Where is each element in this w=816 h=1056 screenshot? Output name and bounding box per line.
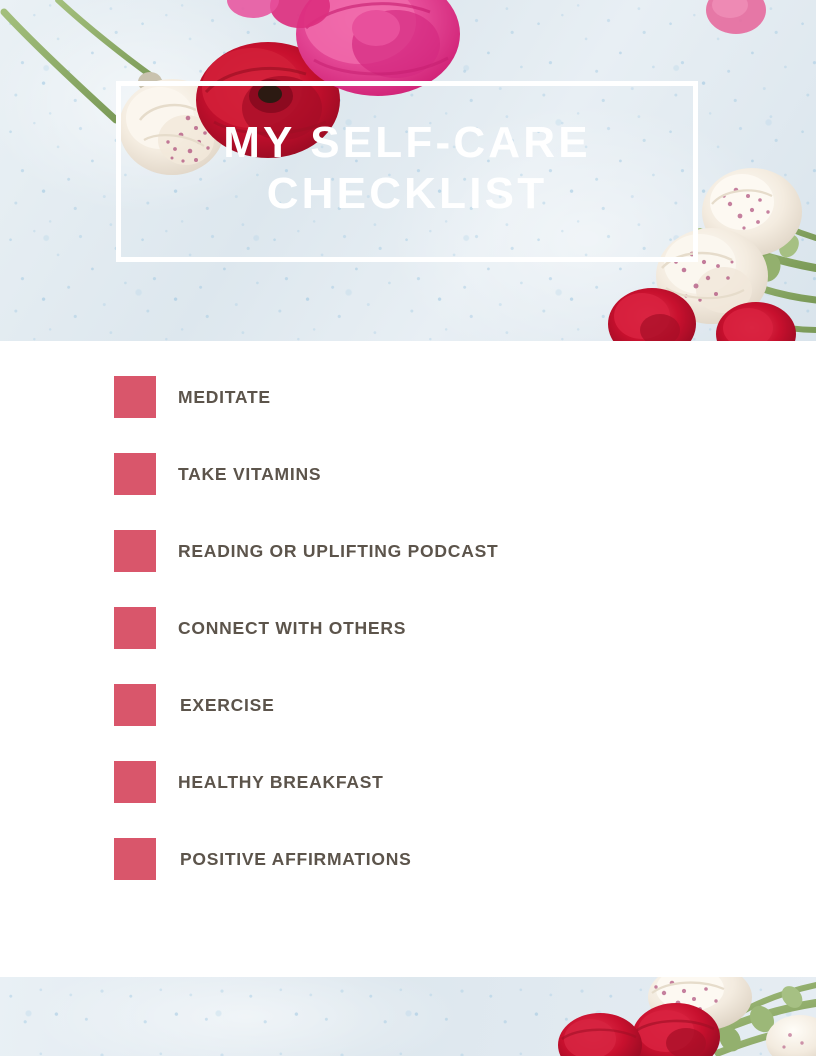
checklist-item[interactable]: EXERCISE [114,684,275,726]
checkbox-icon[interactable] [114,684,156,726]
checklist-item[interactable]: TAKE VITAMINS [114,453,321,495]
checkbox-icon[interactable] [114,453,156,495]
checkbox-icon[interactable] [114,607,156,649]
checklist-item[interactable]: CONNECT WITH OTHERS [114,607,406,649]
title-frame: MY SELF-CARE CHECKLIST [116,81,698,262]
bottom-photo-band: Printable courtesy of tonsofgoodness.com [0,977,816,1056]
page-title: MY SELF-CARE CHECKLIST [213,118,601,225]
checklist-item-label: MEDITATE [178,387,271,408]
checklist-item-label: READING OR UPLIFTING PODCAST [178,541,498,562]
checklist-item-label: TAKE VITAMINS [178,464,321,485]
checklist-item[interactable]: READING OR UPLIFTING PODCAST [114,530,498,572]
checklist-item-label: EXERCISE [180,695,275,716]
checkbox-icon[interactable] [114,838,156,880]
checklist-item-label: POSITIVE AFFIRMATIONS [180,849,412,870]
checklist-item-label: HEALTHY BREAKFAST [178,772,384,793]
checkbox-icon[interactable] [114,761,156,803]
checkbox-icon[interactable] [114,376,156,418]
checklist-item[interactable]: POSITIVE AFFIRMATIONS [114,838,412,880]
bottom-flower-decoration [0,977,816,1056]
checklist-section: MEDITATETAKE VITAMINSREADING OR UPLIFTIN… [0,341,816,977]
checklist-item-label: CONNECT WITH OTHERS [178,618,406,639]
checklist-item[interactable]: HEALTHY BREAKFAST [114,761,384,803]
checkbox-icon[interactable] [114,530,156,572]
checklist-item[interactable]: MEDITATE [114,376,271,418]
top-photo-band: MY SELF-CARE CHECKLIST [0,0,816,341]
printable-page: MY SELF-CARE CHECKLIST MEDITATETAKE VITA… [0,0,816,1056]
